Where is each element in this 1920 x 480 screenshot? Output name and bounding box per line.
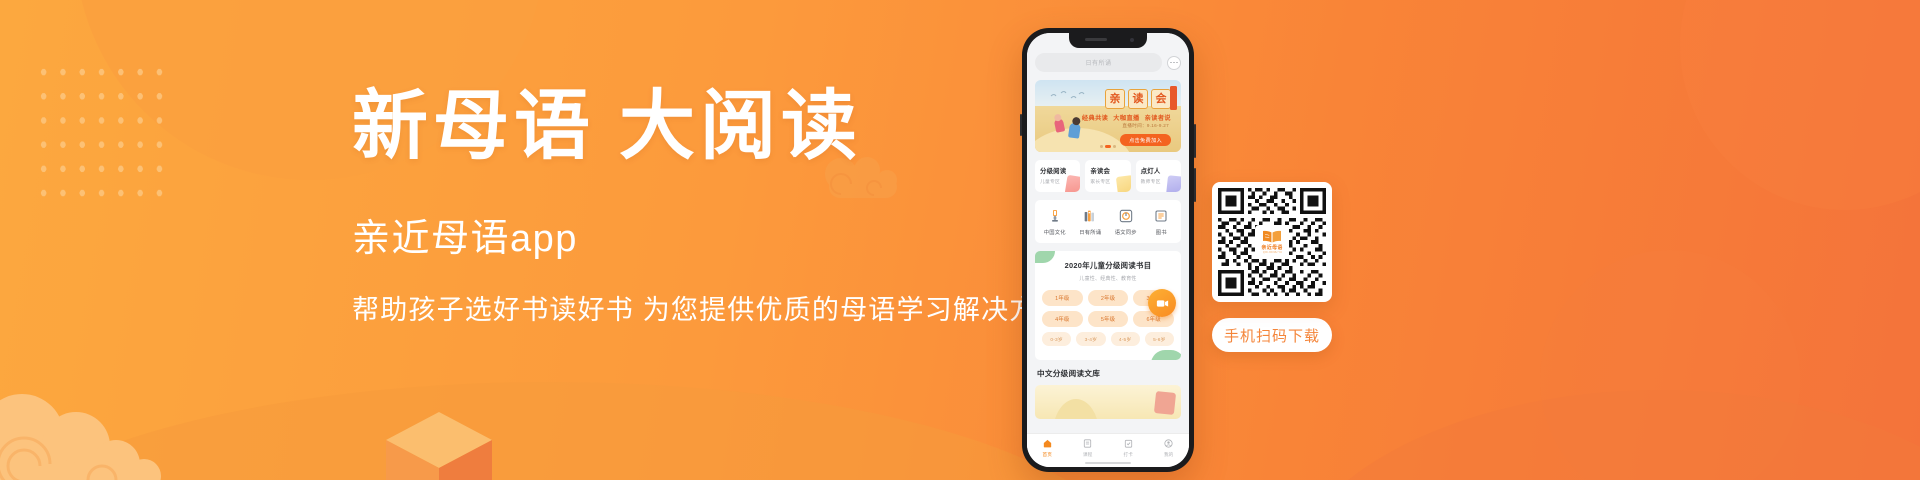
home-icon bbox=[1042, 438, 1053, 449]
qr-logo-name: 亲近母语 bbox=[1261, 246, 1282, 251]
hero-date: 直播时间：9.16-9.27 bbox=[1122, 123, 1169, 129]
search-placeholder: 日有所诵 bbox=[1085, 58, 1111, 67]
qr-logo-pinyin: QIN JIN MU YU bbox=[1262, 252, 1281, 254]
app-home-screen: 日有所诵 亲 bbox=[1027, 33, 1189, 467]
nav-item-label: 中国文化 bbox=[1044, 228, 1066, 236]
hero-feature-2: 大咖直播 bbox=[1113, 113, 1139, 122]
decor-circle-right-top bbox=[1680, 0, 1920, 210]
qr-download-block: 亲近母语 QIN JIN MU YU 手机扫码下载 bbox=[1212, 182, 1332, 352]
culture-lantern-icon bbox=[1047, 208, 1063, 224]
course-icon bbox=[1082, 438, 1093, 449]
hero-title-char-2: 读 bbox=[1128, 89, 1148, 109]
search-input[interactable]: 日有所诵 bbox=[1035, 53, 1162, 72]
nav-item-label: 语文同步 bbox=[1115, 228, 1137, 236]
hero-feature-1: 经典共读 bbox=[1082, 113, 1108, 122]
qr-code-card[interactable]: 亲近母语 QIN JIN MU YU bbox=[1212, 182, 1332, 302]
tab-home[interactable]: 首页 bbox=[1027, 438, 1068, 458]
tab-label: 打卡 bbox=[1123, 452, 1133, 458]
nav-item-daily-recite[interactable]: 日有所诵 bbox=[1073, 208, 1109, 236]
phone-side-button bbox=[1020, 114, 1022, 136]
age-chip[interactable]: 3-4岁 bbox=[1076, 332, 1105, 346]
sync-circle-icon bbox=[1118, 208, 1134, 224]
bottom-tabbar: 首页 课程 打卡 bbox=[1027, 433, 1189, 467]
nav-item-label: 日有所诵 bbox=[1079, 228, 1101, 236]
phone-screen: 日有所诵 亲 bbox=[1027, 33, 1189, 467]
library-section-title: 中文分级阅读文库 bbox=[1037, 368, 1181, 379]
birds-icon bbox=[1049, 90, 1089, 104]
book-yellow-icon bbox=[1116, 175, 1131, 192]
page-title: 新母语 大阅读 bbox=[352, 84, 1052, 171]
hero-features: 经典共读 大咖直播 亲读者说 bbox=[1082, 113, 1171, 122]
nav-item-culture[interactable]: 中国文化 bbox=[1037, 208, 1073, 236]
entry-card-lamplighter[interactable]: 点灯人 教师专区 bbox=[1136, 160, 1181, 192]
booklist-subtitle: 儿童性、经典性、教育性 bbox=[1042, 275, 1174, 282]
nav-item-sync[interactable]: 语文同步 bbox=[1108, 208, 1144, 236]
isometric-cube-icon bbox=[380, 408, 498, 480]
booklist-title: 2020年儿童分级阅读书目 bbox=[1042, 260, 1174, 271]
grade-chip[interactable]: 4年级 bbox=[1042, 311, 1083, 327]
tab-label: 我的 bbox=[1164, 452, 1174, 458]
leaf-decor-bottom bbox=[1151, 350, 1181, 360]
age-chip[interactable]: 0-3岁 bbox=[1042, 332, 1071, 346]
hero-child-b bbox=[1068, 122, 1081, 138]
phone-mockup: 日有所诵 亲 bbox=[1022, 28, 1194, 472]
age-row: 0-3岁 3-4岁 4-5岁 5-6岁 bbox=[1042, 332, 1174, 346]
banner-tagline: 帮助孩子选好书读好书 为您提供优质的母语学习解决方案 bbox=[352, 288, 1052, 327]
decor-hill-left bbox=[0, 382, 1140, 480]
entry-card-title: 点灯人 bbox=[1141, 166, 1176, 175]
hero-flag-decor bbox=[1170, 86, 1177, 110]
pager-dot[interactable] bbox=[1113, 145, 1116, 148]
tab-course[interactable]: 课程 bbox=[1068, 438, 1109, 458]
entry-card-title: 亲读会 bbox=[1090, 166, 1125, 175]
books-shelf-icon bbox=[1082, 208, 1098, 224]
entry-card-title: 分级阅读 bbox=[1040, 166, 1075, 175]
library-card[interactable] bbox=[1035, 385, 1181, 419]
grade-chip[interactable]: 5年级 bbox=[1088, 311, 1129, 327]
more-dots-icon[interactable] bbox=[1167, 56, 1181, 70]
nav-item-books[interactable]: 图书 bbox=[1144, 208, 1180, 236]
download-button[interactable]: 手机扫码下载 bbox=[1212, 318, 1332, 352]
nav-item-label: 图书 bbox=[1156, 228, 1167, 236]
play-video-icon[interactable] bbox=[1148, 289, 1176, 317]
decor-circle-right-bottom bbox=[1540, 250, 1800, 480]
booklist-panel: 2020年儿童分级阅读书目 儿童性、经典性、教育性 1年级 2年级 3年级 4年… bbox=[1035, 251, 1181, 360]
tab-checkin[interactable]: 打卡 bbox=[1108, 438, 1149, 458]
profile-icon bbox=[1163, 438, 1174, 449]
tab-label: 首页 bbox=[1042, 452, 1052, 458]
hero-cta-button[interactable]: 点击免费加入 bbox=[1120, 134, 1171, 146]
phone-notch bbox=[1069, 33, 1147, 48]
home-indicator bbox=[1085, 462, 1131, 465]
entry-card-graded-reading[interactable]: 分级阅读 儿童专区 bbox=[1035, 160, 1080, 192]
decor-hill-right bbox=[1280, 390, 1920, 480]
grade-chip[interactable]: 2年级 bbox=[1088, 290, 1129, 306]
carousel-pager[interactable] bbox=[1100, 145, 1116, 148]
tab-label: 课程 bbox=[1083, 452, 1093, 458]
search-row: 日有所诵 bbox=[1035, 53, 1181, 72]
qr-center-logo: 亲近母语 QIN JIN MU YU bbox=[1255, 225, 1289, 259]
pager-dot[interactable] bbox=[1100, 145, 1103, 148]
book-red-icon bbox=[1065, 175, 1080, 192]
open-book-logo-icon bbox=[1260, 230, 1284, 245]
lamp-purple-icon bbox=[1166, 175, 1181, 192]
promo-banner: 新母语 大阅读 亲近母语app 帮助孩子选好书读好书 为您提供优质的母语学习解决… bbox=[0, 0, 1920, 480]
dot-grid-icon bbox=[32, 58, 172, 206]
age-chip[interactable]: 4-5岁 bbox=[1111, 332, 1140, 346]
entry-card-reading-club[interactable]: 亲读会 家长专区 bbox=[1085, 160, 1130, 192]
checkin-icon bbox=[1123, 438, 1134, 449]
age-chip[interactable]: 5-6岁 bbox=[1145, 332, 1174, 346]
tab-profile[interactable]: 我的 bbox=[1149, 438, 1190, 458]
hero-feature-3: 亲读者说 bbox=[1145, 113, 1171, 122]
icon-nav-row: 中国文化 日有所诵 bbox=[1035, 200, 1181, 243]
pager-dot-active[interactable] bbox=[1105, 145, 1111, 148]
grade-chip[interactable]: 1年级 bbox=[1042, 290, 1083, 306]
hero-title-char-1: 亲 bbox=[1105, 89, 1125, 109]
auspicious-cloud-icon bbox=[0, 368, 206, 480]
hero-carousel-slide[interactable]: 亲 读 会 经典共读 大咖直播 亲读者说 直播时间：9.16-9.27 点击免费… bbox=[1035, 80, 1181, 152]
entry-card-row: 分级阅读 儿童专区 亲读会 家长专区 点灯人 教师专区 bbox=[1035, 160, 1181, 192]
app-name-subtitle: 亲近母语app bbox=[352, 207, 1052, 262]
hero-title-char-3: 会 bbox=[1151, 89, 1171, 109]
book-open-icon bbox=[1153, 208, 1169, 224]
banner-copy: 新母语 大阅读 亲近母语app 帮助孩子选好书读好书 为您提供优质的母语学习解决… bbox=[352, 84, 1052, 327]
grade-chip-group: 1年级 2年级 3年级 4年级 5年级 6年级 0-3岁 3-4岁 4- bbox=[1042, 290, 1174, 346]
hero-title: 亲 读 会 bbox=[1105, 89, 1171, 109]
